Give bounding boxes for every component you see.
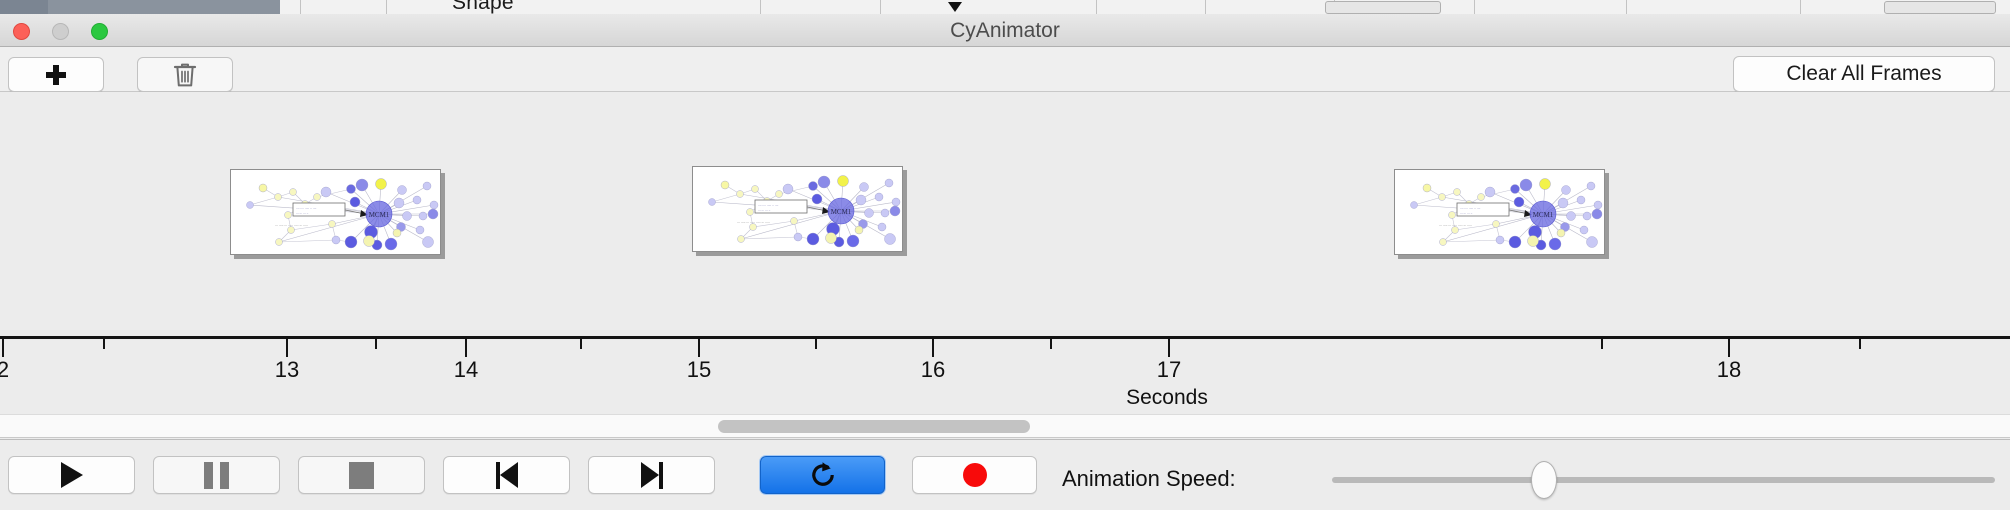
svg-text:MCM1: MCM1 [1533, 211, 1554, 219]
slider-thumb[interactable] [1531, 461, 1557, 499]
axis-tick-label: 18 [1689, 357, 1769, 383]
animation-speed-label: Animation Speed: [1062, 466, 1236, 492]
svg-text:.... .... ..... .. ....: .... .... ..... .. .... [1460, 206, 1480, 210]
pause-icon [204, 462, 229, 489]
pause-button[interactable] [153, 456, 280, 494]
axis-tick [2, 339, 4, 357]
axis-tick [1050, 339, 1052, 349]
axis-tick [932, 339, 934, 357]
axis-tick [103, 339, 105, 349]
axis-tick [1728, 339, 1730, 357]
axis-tick [375, 339, 377, 349]
frame-thumbnail-graph: .... .... ..... .. ....... ... ... .....… [231, 170, 441, 255]
axis-tick [1859, 339, 1861, 349]
axis-tick [815, 339, 817, 349]
axis-tick-label: 15 [659, 357, 739, 383]
axis-title: Seconds [0, 386, 2010, 410]
axis-title-label: Seconds [1126, 386, 1208, 409]
svg-text:MCM1: MCM1 [369, 211, 390, 219]
add-frame-button[interactable] [8, 57, 104, 92]
clear-all-frames-button[interactable]: Clear All Frames [1733, 56, 1995, 92]
timeline-horizontal-scrollbar[interactable] [0, 414, 2010, 438]
frame-sheet: .... .... ..... .. ....... ... ... .....… [1394, 169, 1605, 255]
timeline-frame[interactable]: .... .... ..... .. ....... ... ... .....… [692, 166, 907, 256]
timeline-frame[interactable]: .... .... ..... .. ....... ... ... .....… [1394, 169, 1609, 259]
background-toolbar-dark [0, 0, 48, 14]
frame-sheet: .... .... ..... .. ....... ... ... .....… [692, 166, 903, 252]
timeline-frame[interactable]: .... .... ..... .. ....... ... ... .....… [230, 169, 445, 259]
last-frame-button[interactable] [588, 456, 715, 494]
svg-text:... ..... ... ..... ..... ...: ... ..... ... ..... ..... ... ..... [1439, 223, 1472, 227]
background-toolbar-dark-2 [48, 0, 280, 14]
play-icon [61, 462, 83, 488]
playback-bar: Animation Speed: [0, 439, 2010, 510]
frame-thumbnail-graph: .... .... ..... .. ....... ... ... .....… [693, 167, 903, 252]
first-frame-button[interactable] [443, 456, 570, 494]
svg-text:... ... ... ..: ... ... ... .. [1460, 211, 1473, 215]
plus-icon [46, 65, 66, 85]
svg-text:... ..... ... ..... ..... ...: ... ..... ... ..... ..... ... ..... [275, 223, 308, 227]
axis-tick [465, 339, 467, 357]
skip-back-icon [494, 462, 520, 489]
axis-tick-label: 16 [893, 357, 973, 383]
window-title: CyAnimator [0, 19, 2010, 43]
timeline-axis-line [0, 336, 2010, 339]
svg-text:MCM1: MCM1 [831, 208, 852, 216]
record-button[interactable] [912, 456, 1037, 494]
cyanimator-window: Shape CyAnimator Clear All Frames [0, 0, 2010, 510]
animation-speed-slider[interactable] [1332, 477, 1995, 483]
svg-text:.... .... ..... .. ....: .... .... ..... .. .... [296, 206, 316, 210]
svg-text:... ..... ... ..... ..... ...: ... ..... ... ..... ..... ... ..... [737, 220, 770, 224]
axis-tick [580, 339, 582, 349]
frame-thumbnail-graph: .... .... ..... .. ....... ... ... .....… [1395, 170, 1605, 255]
svg-text:... ... ... ..: ... ... ... .. [758, 208, 771, 212]
timeline-panel[interactable]: .... .... ..... .. ....... ... ... .....… [0, 92, 2010, 414]
axis-tick-label: 14 [426, 357, 506, 383]
loop-button[interactable] [760, 456, 885, 494]
axis-tick [1601, 339, 1603, 349]
axis-tick-label: 2 [0, 357, 43, 383]
axis-tick [286, 339, 288, 357]
svg-text:... ... ... ..: ... ... ... .. [296, 211, 309, 215]
slider-track[interactable] [1332, 477, 1995, 483]
axis-tick [1168, 339, 1170, 357]
stop-icon [349, 462, 374, 489]
background-app-label: Shape [452, 0, 514, 14]
loop-icon [808, 460, 838, 490]
axis-tick [698, 339, 700, 357]
axis-tick-label: 17 [1129, 357, 1209, 383]
title-bar: CyAnimator [0, 14, 2010, 47]
clear-all-frames-label: Clear All Frames [1786, 62, 1941, 86]
scrollbar-thumb[interactable] [718, 420, 1030, 433]
toolbar: Clear All Frames [0, 47, 2010, 92]
record-icon [963, 463, 987, 487]
trash-icon [173, 62, 197, 88]
background-window-strip: Shape [0, 0, 2010, 14]
frame-sheet: .... .... ..... .. ....... ... ... .....… [230, 169, 441, 255]
skip-forward-icon [639, 462, 665, 489]
axis-tick-label: 13 [247, 357, 327, 383]
background-cursor-icon [948, 2, 962, 12]
delete-frame-button[interactable] [137, 57, 233, 92]
svg-text:.... .... ..... .. ....: .... .... ..... .. .... [758, 203, 778, 207]
stop-button[interactable] [298, 456, 425, 494]
play-button[interactable] [8, 456, 135, 494]
